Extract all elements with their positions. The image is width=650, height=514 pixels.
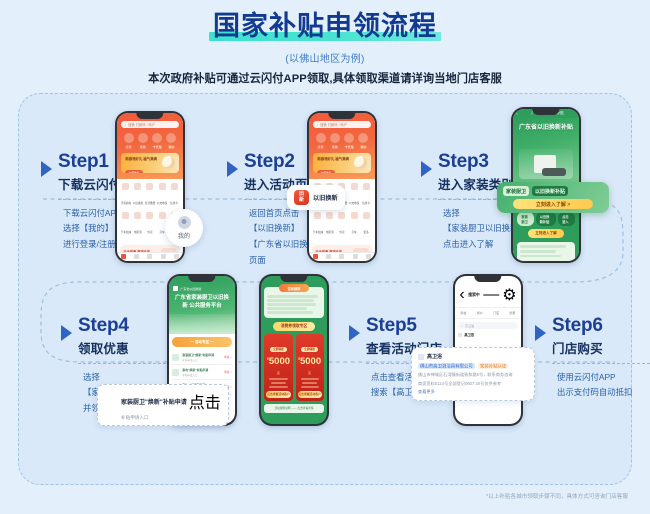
city-illustration: [169, 314, 234, 334]
search-navbar: ‹ 搜索中 — ⚙: [455, 283, 520, 308]
quick-actions: 付款 收款 卡管理 我的: [313, 133, 370, 149]
tab-pay-icon[interactable]: [326, 254, 331, 259]
taxi-icon: [159, 212, 166, 219]
callout-bubble-mine: 我的: [165, 209, 203, 247]
quick-label: 卡管理: [152, 145, 162, 149]
grid-item[interactable]: 汽车加油: [120, 212, 131, 238]
triangle-icon: [227, 161, 238, 177]
green-hero: 广东省以旧换新补贴: [513, 118, 578, 182]
sender-name: 高卫浴: [464, 332, 474, 337]
bubble-label: 我的: [178, 231, 190, 240]
search-placeholder: 搜索 付款码 / 商户: [320, 122, 347, 127]
receive-icon: [330, 133, 340, 143]
page-subtitle-region: (以佛山地区为例): [0, 50, 650, 65]
search-tabs: 综合 商户 门店 优惠: [455, 308, 520, 319]
list-item[interactable]: 家电"换新"补贴申请补贴申请入口 申请 >: [172, 365, 231, 380]
grid-item[interactable]: 公交地铁: [349, 183, 360, 209]
search-icon: ⌕: [461, 324, 463, 328]
flow-card: Step1 下载云闪付APP 下载云闪付APP 选择【我的】 进行登录/注册设置…: [18, 93, 632, 485]
merchant-avatar: [418, 354, 424, 360]
coupon-page: 活动细则 消费券领取专区 立即领取 ¥5000元 点击查看活动: [261, 276, 326, 423]
panda-mascot-icon: [354, 156, 367, 169]
search-value: 高卫浴: [465, 324, 474, 328]
grid-item[interactable]: 信用卡: [361, 183, 372, 209]
grid-item-more[interactable]: 更多: [361, 212, 372, 238]
movie-icon: [134, 212, 141, 219]
item-action[interactable]: 申请 >: [224, 355, 231, 359]
platform-title: 广东省家装厨卫以旧换新 公共服务平台: [173, 295, 230, 310]
callout-subtitle: 补贴申请入口: [121, 415, 221, 421]
step-6-number: Step6: [552, 316, 603, 336]
home-kitchen-icon: [172, 354, 179, 361]
user-icon: [358, 133, 368, 143]
step-6-line-2: 出示支付码自动抵扣: [557, 385, 650, 401]
taxi-icon: [351, 212, 358, 219]
enter-cta-secondary[interactable]: 立刻进入了解: [528, 229, 563, 238]
merchant-name-highlight[interactable]: 佛山市高卫浴洁具有限公司: [418, 363, 475, 369]
coupon-button[interactable]: 点击查看活动商户: [266, 391, 290, 398]
phone-mockup-step4-coupons: 活动细则 消费券领取专区 立即领取 ¥5000元 点击查看活动: [259, 274, 329, 426]
quick-actions: 付款 收款 卡管理 我的: [121, 133, 178, 149]
coupon-amount: ¥5000元: [266, 357, 290, 376]
tab-mine-icon[interactable]: [174, 254, 179, 259]
trade-in-icon: [134, 183, 141, 190]
pill-enter[interactable]: 点击进入: [558, 212, 574, 226]
tab-home-icon[interactable]: [121, 254, 126, 259]
callout-sender: 高卫浴: [427, 353, 442, 360]
item-name: 家装厨卫"焕新"补贴申请: [182, 353, 221, 357]
step-block-6: Step6 门店购买 使用云闪付APP 出示支付码自动抵扣: [535, 316, 650, 401]
grid-item-trade-in[interactable]: 以旧换新: [132, 183, 143, 209]
grid-item[interactable]: 生活缴费: [144, 183, 155, 209]
takeout-icon: [146, 212, 153, 219]
grid-item[interactable]: 汽车加油: [312, 212, 323, 238]
creditcard-icon: [171, 183, 178, 190]
promo-banner[interactable]: 新春领好礼 福气满满 立即参与: [313, 153, 370, 173]
phone-notch: [136, 113, 163, 119]
coupon-card[interactable]: 立即领取 ¥5000元 点击查看活动商户: [296, 334, 324, 400]
page-header: 国家补贴申领流程 (以佛山地区为例) 本次政府补贴可通过云闪付APP领取,具体领…: [0, 0, 650, 86]
callout-home-kitchen-subsidy: 家装厨卫 以旧换新补贴 立刻进入了解 >: [497, 182, 609, 213]
callout-text: 家装厨卫"焕新"补贴申请 点击 补贴申请入口: [121, 389, 221, 421]
rules-header: 活动细则: [279, 284, 309, 292]
coupon-amount: ¥5000元: [298, 357, 322, 376]
quick-action-cards[interactable]: 卡管理: [152, 133, 162, 149]
tab-merchant[interactable]: 商户: [477, 311, 483, 315]
platform-brand: 广东省以旧换新: [173, 286, 230, 291]
amount-value: 5000: [269, 356, 290, 367]
search-icon: ⌕: [316, 123, 318, 127]
step-5-number: Step5: [366, 316, 442, 336]
callout-highlight-row: 佛山市高卫浴洁具有限公司 家装补贴认证: [418, 363, 528, 369]
creditcard-icon: [363, 183, 370, 190]
fuel-icon: [314, 212, 321, 219]
tab-store[interactable]: 门店: [493, 311, 499, 315]
hero-illustration: [519, 149, 574, 179]
utility-icon: [146, 183, 153, 190]
phone-notch: [188, 276, 215, 282]
quick-action-mine[interactable]: 我的: [358, 133, 368, 149]
promo-banner[interactable]: 新春领好礼 福气满满 立即参与: [121, 153, 178, 173]
page-title: 国家补贴申领流程: [213, 11, 437, 42]
phone-topup-icon: [122, 183, 129, 190]
triangle-icon: [349, 325, 360, 341]
step-4-subtitle: 领取优惠: [78, 338, 129, 357]
banner-pill[interactable]: 立即参与: [317, 170, 334, 173]
info-card: [517, 242, 574, 260]
card-icon: [152, 133, 162, 143]
tab-deals[interactable]: 优惠: [509, 311, 515, 315]
bottom-tabbar: [309, 252, 374, 261]
item-name: 家电"换新"补贴申请: [182, 368, 221, 372]
callout-label: 以旧换新: [313, 193, 338, 202]
phone-notch: [474, 276, 501, 282]
quick-action-pay[interactable]: 付款: [124, 133, 134, 149]
tab-home-icon[interactable]: [313, 254, 318, 259]
tab-mine-icon[interactable]: [366, 254, 371, 259]
step-6-head: Step6 门店购买: [535, 316, 650, 357]
panda-mascot-icon: [162, 156, 175, 169]
item-action[interactable]: 申请 >: [224, 370, 231, 374]
callout-title: 家装厨卫"焕新"补贴申请: [121, 397, 187, 406]
grid-item[interactable]: 公交地铁: [157, 183, 168, 209]
grid-item[interactable]: 外卖: [336, 212, 347, 238]
grid-item[interactable]: 手机充电: [120, 183, 131, 209]
callout-line: 商家资料0124号全部登记0607 20号仅供参考: [418, 380, 528, 387]
grid-item[interactable]: 打车: [349, 212, 360, 238]
tab-deals-icon[interactable]: [339, 254, 344, 259]
back-icon[interactable]: ‹: [516, 112, 517, 116]
hero-title: 广东省以旧换新补贴: [517, 125, 574, 133]
phone-notch: [280, 276, 307, 282]
coupon-row: 立即领取 ¥5000元 点击查看活动商户 立即领取 ¥5000元 点击查: [264, 334, 323, 400]
search-input[interactable]: ⌕ 搜索 付款码 / 商户: [313, 121, 370, 128]
more-icon: [363, 212, 370, 219]
pill-trade-in-subsidy[interactable]: 以旧换新补贴: [532, 186, 568, 196]
coupon-card[interactable]: 立即领取 ¥5000元 点击查看活动商户: [264, 334, 292, 400]
quick-action-mine[interactable]: 我的: [166, 133, 176, 149]
pill-home-kitchen[interactable]: 家装厨卫: [517, 212, 533, 226]
list-item[interactable]: 家装厨卫"焕新"补贴申请补贴申请入口 申请 >: [172, 350, 231, 365]
search-placeholder: 搜索 付款码 / 商户: [128, 122, 155, 127]
pay-icon: [316, 133, 326, 143]
callout-badge[interactable]: 点击: [189, 389, 221, 413]
amount-value: 5000: [300, 356, 321, 367]
nav-title: 搜索中: [468, 293, 481, 298]
user-icon: [166, 133, 176, 143]
search-icon: ⌕: [124, 123, 126, 127]
avatar: [178, 216, 191, 229]
coupon-button[interactable]: 点击查看活动商户: [298, 391, 322, 398]
callout-header: 高卫浴: [418, 353, 528, 360]
amount-unit: 元: [277, 371, 280, 375]
callout-trade-in: 旧新 以旧换新: [287, 185, 345, 210]
pay-icon: [124, 133, 134, 143]
bottom-tabbar: [117, 252, 182, 261]
merchant-avatar: [458, 333, 462, 337]
triangle-icon: [535, 325, 546, 341]
coupon-zone-banner: 消费券领取专区: [273, 322, 314, 331]
quick-label: 我的: [166, 145, 176, 149]
home-kitchen-icon: 厨卫: [104, 398, 117, 411]
settings-icon[interactable]: ⚙: [502, 285, 516, 305]
page-subtitle-note: 本次政府补贴可通过云闪付APP领取,具体领取渠道请详询当地门店客服: [0, 70, 650, 86]
receive-icon: [138, 133, 148, 143]
fuel-icon: [122, 212, 129, 219]
car-illustration: [542, 168, 566, 176]
callout-pills: 家装厨卫 以旧换新补贴: [503, 186, 603, 196]
quick-label: 收款: [138, 145, 148, 149]
item-sub: 补贴申请入口: [182, 358, 221, 362]
grid-item[interactable]: 外卖: [144, 212, 155, 238]
activity-zone-bar: 一 活动专区 一: [172, 337, 231, 347]
page-footnote: *以上补贴各城市领取步骤不同，具体方式可咨询门店客服: [486, 492, 628, 500]
search-input[interactable]: ⌕ 搜索 付款码 / 商户: [121, 121, 178, 128]
pill-home-kitchen[interactable]: 家装厨卫: [503, 186, 529, 196]
grid-item[interactable]: 信用卡: [169, 183, 180, 209]
category-pills-secondary: 家装厨卫 以旧换新补贴 点击进入: [517, 212, 574, 226]
quick-action-receive[interactable]: 收款: [138, 133, 148, 149]
unionpay-hero: ⌕ 搜索 付款码 / 商户 付款 收款 卡管理 我的 新春领好礼 福气满满 立即…: [309, 113, 374, 179]
tab-messages-icon[interactable]: [353, 254, 358, 259]
takeout-icon: [338, 212, 345, 219]
triangle-icon: [421, 161, 432, 177]
minimize-icon[interactable]: —: [483, 286, 499, 304]
triangle-icon: [61, 325, 72, 341]
trade-in-icon: 旧新: [294, 190, 309, 205]
amount-unit: 元: [308, 371, 311, 375]
verified-tag: 家装补贴认证: [478, 363, 508, 369]
search-input[interactable]: ⌕ 高卫浴: [458, 322, 517, 329]
card-icon: [344, 133, 354, 143]
tab-deals-icon[interactable]: [147, 254, 152, 259]
step-6-line-1: 使用云闪付APP: [557, 370, 650, 386]
triangle-icon: [41, 161, 52, 177]
callout-merchant-detail: 高卫浴 佛山市高卫浴洁具有限公司 家装补贴认证 佛山市禅城区石湾镇街道致和路5号…: [411, 347, 535, 401]
step-6-subtitle: 门店购买: [552, 338, 603, 357]
banner-pill[interactable]: 立即参与: [125, 170, 142, 173]
result-sender: 高卫浴: [458, 332, 517, 337]
step-3-number: Step3: [438, 152, 514, 172]
back-icon[interactable]: ‹: [459, 286, 464, 304]
grid-item[interactable]: 电影票: [324, 212, 335, 238]
unionpay-hero: ⌕ 搜索 付款码 / 商户 付款 收款 卡管理 我的 新春领好礼 福气满满 立即…: [117, 113, 182, 179]
tab-messages-icon[interactable]: [161, 254, 166, 259]
phone-notch: [328, 113, 355, 119]
coupon-footer-note: 活动规则说明 —— 点击查看详情: [264, 404, 323, 413]
phone5-screen: 活动细则 消费券领取专区 立即领取 ¥5000元 点击查看活动: [261, 276, 326, 423]
coupon-tag: 立即领取: [270, 347, 287, 353]
quick-action-cards[interactable]: 卡管理: [344, 133, 354, 149]
callout-subsidy-application: 厨卫 家装厨卫"焕新"补贴申请 点击 补贴申请入口: [97, 384, 229, 426]
step-6-divider: [552, 363, 650, 364]
step-4-number: Step4: [78, 316, 129, 336]
grid-item[interactable]: 电影票: [132, 212, 143, 238]
tab-all[interactable]: 综合: [461, 311, 467, 315]
callout-line: 佛山市禅城区石湾镇街道致和路5号，联系商务咨询: [418, 371, 528, 378]
quick-action-pay[interactable]: 付款: [316, 133, 326, 149]
coupon-tag: 立即领取: [301, 347, 318, 353]
logo-icon: [173, 286, 178, 291]
appliance-icon: [172, 369, 179, 376]
brand-label: 广东省以旧换新: [180, 287, 201, 291]
movie-icon: [326, 212, 333, 219]
platform-hero: 广东省以旧换新 广东省家装厨卫以旧换新 公共服务平台: [169, 276, 234, 334]
item-sub: 补贴申请入口: [182, 373, 221, 377]
enter-cta[interactable]: 立刻进入了解 >: [513, 199, 593, 209]
rules-note-card: 活动细则: [264, 287, 323, 318]
pill-trade-in[interactable]: 以旧换新补贴: [536, 212, 557, 226]
step-6-lines: 使用云闪付APP 出示支付码自动抵扣: [535, 370, 650, 401]
tab-pay-icon[interactable]: [134, 254, 139, 259]
quick-label: 付款: [124, 145, 134, 149]
transit-icon: [159, 183, 166, 190]
quick-action-receive[interactable]: 收款: [330, 133, 340, 149]
transit-icon: [351, 183, 358, 190]
callout-more-link[interactable]: 查看更多: [418, 389, 528, 395]
phone-notch: [532, 109, 559, 115]
title-wrap: 国家补贴申领流程: [213, 11, 437, 42]
